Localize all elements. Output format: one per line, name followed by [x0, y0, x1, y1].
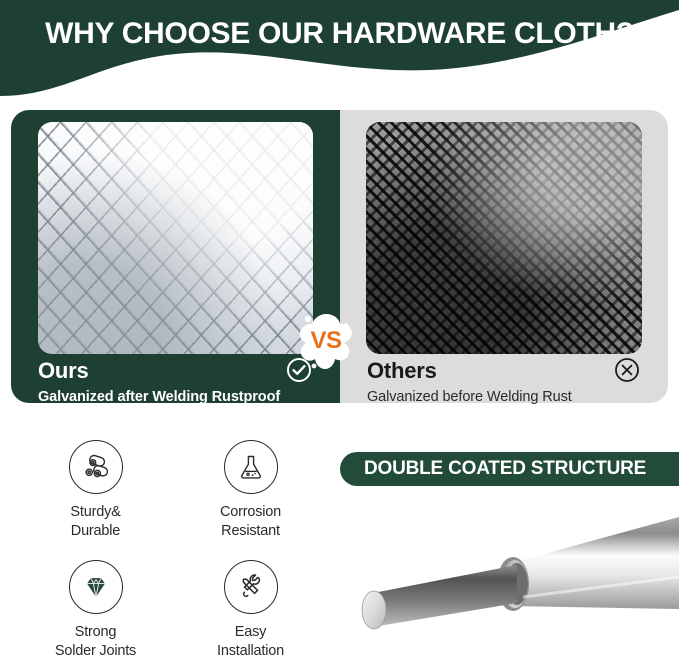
feature-item-corrosion-resistant: CorrosionResistant [173, 440, 328, 540]
wire-rolls-icon [80, 451, 112, 483]
ours-subtitle: Galvanized after Welding Rustproof [38, 389, 280, 405]
features-grid: Sturdy&Durable CorrosionResistant [18, 440, 338, 647]
comparison-panel-ours: Ours Galvanized after Welding Rustproof [11, 110, 340, 403]
ours-label: Ours [38, 358, 89, 384]
others-subtitle: Galvanized before Welding Rust [367, 389, 572, 405]
vs-label: VS [295, 310, 357, 372]
feature-label-strong-solder-joints: StrongSolder Joints [18, 623, 173, 660]
header-banner: WHY CHOOSE OUR HARDWARE CLOTH? [0, 0, 679, 108]
x-circle-icon [614, 357, 640, 383]
feature-item-easy-installation: EasyInstallation [173, 560, 328, 660]
double-coated-structure-banner: DOUBLE COATED STRUCTURE [340, 452, 679, 486]
feature-icon-frame [224, 560, 278, 614]
others-mesh-photo [366, 122, 642, 354]
comparison-section: Ours Galvanized after Welding Rustproof … [0, 110, 679, 405]
feature-icon-frame [69, 560, 123, 614]
feature-item-strong-solder-joints: StrongSolder Joints [18, 560, 173, 660]
feature-icon-frame [224, 440, 278, 494]
feature-icon-frame [69, 440, 123, 494]
flask-icon [235, 451, 267, 483]
tools-icon [235, 571, 267, 603]
diamond-icon [80, 571, 112, 603]
others-label: Others [367, 358, 437, 384]
double-coated-structure-label: DOUBLE COATED STRUCTURE [340, 458, 646, 480]
feature-label-corrosion-resistant: CorrosionResistant [173, 503, 328, 540]
coated-wire-diagram [333, 505, 679, 647]
ours-mesh-photo [38, 122, 313, 354]
comparison-panel-others: Others Galvanized before Welding Rust [340, 110, 668, 403]
feature-label-easy-installation: EasyInstallation [173, 623, 328, 660]
feature-item-sturdy-durable: Sturdy&Durable [18, 440, 173, 540]
page-title: WHY CHOOSE OUR HARDWARE CLOTH? [0, 17, 679, 51]
feature-label-sturdy-durable: Sturdy&Durable [18, 503, 173, 540]
